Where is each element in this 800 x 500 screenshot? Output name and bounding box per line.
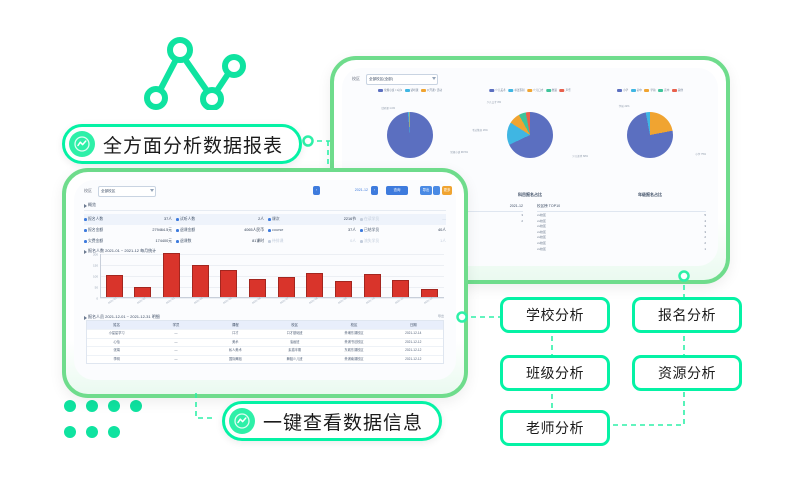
chart-x-tick-label: 2021-05 (223, 297, 236, 309)
pie-caption: 科目报名占比 (470, 192, 590, 198)
chart-bar[interactable] (335, 281, 352, 298)
list-item-value: 1 (704, 247, 706, 251)
pie-slice-label: 试听课 1.0% (381, 106, 395, 110)
legend-swatch (508, 89, 513, 92)
bullet-icon (176, 229, 179, 232)
date-next-button[interactable]: › (371, 186, 378, 195)
legend-label: 初中 (637, 88, 642, 92)
legend-label: 学前 (650, 88, 655, 92)
stats-grid: 报名人数 37人 试听人数 2人 课次 2216节 (84, 214, 446, 247)
overview-section-title: 概览 (88, 202, 96, 208)
stat-value: 40人 (438, 225, 446, 236)
chart-x-tick-label: 2021-10 (366, 297, 379, 309)
bottom-filter-label: 校区 (84, 188, 92, 194)
poster-canvas: 校区 全部校区(全部) 常规小班 / 1对1 (0, 0, 800, 500)
legend-swatch (489, 89, 494, 92)
reset-button[interactable] (433, 186, 440, 195)
bullet-icon (268, 218, 271, 221)
pie-caption: 年级报名占比 (590, 192, 710, 198)
chart-y-axis (100, 254, 101, 298)
table-column-header[interactable]: 日期 (384, 321, 443, 329)
stat-cell: 试听人数 2人 (176, 214, 264, 225)
analysis-box-teacher[interactable]: 老师分析 (500, 410, 610, 446)
bullet-icon (268, 240, 271, 243)
table-cell: 2021-12-12 (384, 339, 443, 347)
legend-label: 小学 (623, 88, 628, 92)
chart-x-tick-label: 2021-07 (280, 297, 293, 309)
stat-value: 0人 (350, 236, 356, 247)
list-item: xx校区 5 (537, 213, 706, 217)
list-item: xx校区 3 (537, 224, 706, 228)
legend-item: 公开课 / 活动 (421, 88, 442, 92)
legend-label: 公开课 / 活动 (427, 88, 442, 92)
divider (84, 210, 446, 211)
pie-chart-block: 少儿美术 书法篆刻 少儿口才 舞蹈 (470, 88, 590, 200)
table-cell: — (146, 356, 205, 364)
stat-cell: course 37人 (268, 225, 356, 236)
legend-label: 试听课 (411, 88, 419, 92)
list-item-name: xx校区 (537, 230, 546, 234)
legend-item: 书法篆刻 (508, 88, 524, 92)
list-item-value: 2 (704, 241, 706, 245)
chart-x-tick-label: 2021-06 (251, 297, 264, 309)
bullet-icon (84, 229, 87, 232)
bullet-icon (84, 240, 87, 243)
top-filter-label: 校区 (352, 76, 360, 82)
list-item-name: xx校区 (537, 247, 546, 251)
analysis-box-enrollment[interactable]: 报名分析 (632, 297, 742, 333)
bullet-icon (360, 218, 363, 221)
stat-cell: 退课数 81课时 (176, 236, 264, 247)
list-item-value: 2 (521, 219, 523, 223)
feature-pill-label: 一键查看数据信息 (263, 408, 423, 435)
legend-item: 舞蹈 (546, 88, 557, 92)
legend-item: 常规小班 / 1对1 (378, 88, 402, 92)
chart-x-tick-label: 2021-02 (137, 297, 150, 309)
stat-value: 37人 (348, 225, 356, 236)
pie-chart[interactable] (387, 112, 433, 158)
pie-slice-label: 小学 75% (695, 152, 706, 156)
list-item-value: 3 (704, 224, 706, 228)
list-item: xx校区 4 (537, 219, 706, 223)
list-item-name: xx校区 (537, 213, 546, 217)
stat-cell: 课次 2216节 (268, 214, 356, 225)
chart-x-labels: 2021-012021-022021-032021-042021-052021-… (100, 299, 444, 307)
pie-chart-block: 小学 初中 学前 高中 (590, 88, 710, 200)
chevron-down-icon (150, 189, 154, 192)
bullet-icon (176, 218, 179, 221)
legend-item: 高中 (658, 88, 669, 92)
legend-label: 少儿美术 (495, 88, 505, 92)
chart-bars (100, 254, 444, 298)
stat-name: 报名人数 (88, 214, 103, 225)
chart-bar[interactable] (306, 273, 323, 298)
legend-item: 学前 (644, 88, 655, 92)
stat-name: 在读学员 (364, 214, 379, 225)
pie-slice-label: 学前 22% (619, 104, 630, 108)
analysis-box-label: 资源分析 (658, 363, 716, 383)
table-header-row: 姓名学员课程校区校区日期 (87, 321, 443, 329)
stat-cell: 已结学员 40人 (360, 225, 446, 236)
table-export-link[interactable]: 导出 (438, 314, 444, 318)
stat-value: 1人 (440, 236, 446, 247)
chart-bar[interactable] (392, 280, 409, 298)
list-item-name: xx校区 (537, 241, 546, 245)
top-toolbar: 校区 全部校区(全部) (352, 74, 708, 88)
feature-pill-label: 全方面分析数据报表 (103, 131, 283, 158)
stat-value: 2216节 (344, 214, 356, 225)
table-row[interactable]: 李明—国际舞蹈舞蹈少儿班黄浦南湖校区2021-12-12 (87, 355, 443, 364)
analysis-box-label: 老师分析 (526, 418, 584, 438)
line-chart-badge-icon (229, 408, 255, 434)
bottom-campus-select[interactable]: 全部校区 (98, 186, 156, 197)
legend-swatch (658, 89, 663, 92)
chart-x-tick-label: 2021-12 (423, 297, 436, 309)
stat-name: 报名金额 (88, 225, 103, 236)
analysis-box-class[interactable]: 班级分析 (500, 355, 610, 391)
stat-row: 报名人数 37人 试听人数 2人 课次 2216节 (84, 214, 446, 225)
table-cell: — (146, 347, 205, 355)
stat-value: 4065人民币 (244, 225, 264, 236)
analysis-box-school[interactable]: 学校分析 (500, 297, 610, 333)
stat-name: 待排课 (272, 236, 283, 247)
legend-swatch (421, 89, 426, 92)
ranking-list-header: 校区榜 TOP10 (537, 204, 706, 212)
chevron-down-icon (432, 77, 436, 80)
table-cell: 私人美术 (206, 347, 265, 355)
date-value[interactable]: 2021-12 (355, 186, 368, 195)
stat-name: 退课数 (180, 236, 191, 247)
table-cell: 口才基础班 (265, 330, 324, 338)
ranking-period: 2021-12 (510, 204, 523, 209)
legend-item: 其他 (672, 88, 683, 92)
table-column-header[interactable]: 校区 (265, 321, 324, 329)
bottom-dashboard-card[interactable]: 校区 全部校区 ‹ 2021-12 › 查询 导出 更多 概览 (62, 168, 468, 398)
chart-x-tick-label: 2021-08 (309, 297, 322, 309)
table-cell: 黄浦书法校区 (324, 339, 383, 347)
legend-swatch (546, 89, 551, 92)
chart-x-tick-label: 2021-11 (395, 297, 407, 309)
top-campus-select-value: 全部校区(全部) (367, 75, 437, 84)
stat-value: — (442, 214, 446, 225)
legend-swatch (560, 89, 565, 92)
list-item-value: 4 (704, 219, 706, 223)
chart-y-tick-label: 100 (88, 275, 98, 279)
pie-slice-label: 少儿口才 8% (487, 100, 501, 104)
table-cell: 心怡 (87, 339, 146, 347)
pie-chart[interactable] (627, 112, 673, 158)
legend-label: 声乐 (566, 88, 571, 92)
table-row[interactable]: 张娟—私人美术素描半期东城东湖校区2021-12-12 (87, 346, 443, 355)
chart-bar[interactable] (364, 274, 381, 298)
pie-legend: 少儿美术 书法篆刻 少儿口才 舞蹈 (489, 88, 571, 92)
analysis-box-label: 班级分析 (526, 363, 584, 383)
chart-bar[interactable] (220, 270, 237, 298)
chart-bar[interactable] (163, 253, 180, 298)
pie-slice-label: 常规小班 98.5% (450, 150, 468, 154)
stat-cell: 在读学员 — (360, 214, 446, 225)
bullet-icon (84, 218, 87, 221)
pie-chart[interactable] (507, 112, 553, 158)
legend-item: 小学 (617, 88, 628, 92)
legend-swatch (378, 89, 383, 92)
list-item: xx校区 3 (537, 230, 706, 234)
chart-bar[interactable] (249, 279, 266, 298)
pie-legend: 小学 初中 学前 高中 (617, 88, 683, 92)
list-item-value: 2 (704, 235, 706, 239)
table-cell: 黄埔东湖校区 (324, 330, 383, 338)
pie-legend: 常规小班 / 1对1 试听课 公开课 / 活动 (378, 88, 442, 92)
stat-value: 81课时 (252, 236, 264, 247)
legend-label: 其他 (678, 88, 683, 92)
chart-bar[interactable] (106, 275, 123, 298)
bottom-campus-select-value: 全部校区 (99, 187, 155, 196)
list-item: xx校区 2 (537, 235, 706, 239)
table-cell: 口才 (206, 330, 265, 338)
stat-name: 已结学员 (364, 225, 379, 236)
stat-row: 欠费金额 174400元 退课数 81课时 待排课 0人 (84, 236, 446, 247)
search-button[interactable]: 查询 (386, 186, 408, 195)
stat-cell: 待排课 0人 (268, 236, 356, 247)
stat-cell: 报名人数 37人 (84, 214, 172, 225)
table-column-header[interactable]: 校区 (324, 321, 383, 329)
stat-value: 279464.5元 (152, 225, 172, 236)
legend-item: 初中 (631, 88, 642, 92)
stat-cell: 报名金额 279464.5元 (84, 225, 172, 236)
chart-y-tick-label: 50 (88, 286, 98, 290)
feature-pill-analysis-report[interactable]: 全方面分析数据报表 (62, 124, 302, 164)
legend-swatch (631, 89, 636, 92)
chart-x-tick-label: 2021-09 (337, 297, 350, 309)
chart-y-tick-label: 150 (88, 264, 98, 268)
stat-name: 流失学员 (364, 236, 379, 247)
monthly-bar-chart[interactable]: 200150100500 2021-012021-022021-032021-0… (88, 254, 444, 306)
stat-value: 174400元 (156, 236, 172, 247)
chart-x-axis (100, 297, 444, 298)
stat-name: 退课金额 (180, 225, 195, 236)
chart-x-tick-label: 2021-04 (194, 297, 207, 309)
chart-bar[interactable] (278, 277, 295, 298)
analysis-box-label: 学校分析 (526, 305, 584, 325)
ranking-list: 校区榜 TOP10 xx校区 5 xx校区 4 xx校区 3 (537, 204, 706, 251)
list-item-name: xx校区 (537, 224, 546, 228)
ranking-title: 校区榜 TOP10 (537, 204, 560, 209)
stat-name: 试听人数 (180, 214, 195, 225)
pie-slice-label: 少儿美术 68% (572, 154, 588, 158)
chart-bar[interactable] (192, 265, 209, 298)
legend-swatch (405, 89, 410, 92)
line-chart-decoration-icon (142, 22, 250, 110)
table-cell: 油画班 (265, 339, 324, 347)
table-column-header[interactable]: 姓名 (87, 321, 146, 329)
chart-y-tick-label: 0 (88, 297, 98, 301)
stat-cell: 退课金额 4065人民币 (176, 225, 264, 236)
table-column-header[interactable]: 课程 (206, 321, 265, 329)
analysis-box-label: 报名分析 (658, 305, 716, 325)
date-prev-button[interactable]: ‹ (313, 186, 320, 195)
table-cell: — (146, 330, 205, 338)
table-cell: 东城东湖校区 (324, 347, 383, 355)
bottom-toolbar: 校区 全部校区 ‹ 2021-12 › 查询 导出 更多 (84, 186, 446, 200)
legend-label: 书法篆刻 (514, 88, 524, 92)
table-cell: 2021-12-14 (384, 330, 443, 338)
legend-label: 常规小班 / 1对1 (384, 88, 402, 92)
stat-cell: 欠费金额 174400元 (84, 236, 172, 247)
table-row[interactable]: 心怡—美术油画班黄浦书法校区2021-12-12 (87, 338, 443, 347)
legend-swatch (527, 89, 532, 92)
stat-value: 37人 (164, 214, 172, 225)
legend-item: 少儿美术 (489, 88, 505, 92)
table-cell: 2021-12-12 (384, 347, 443, 355)
bottom-dashboard-screen: 校区 全部校区 ‹ 2021-12 › 查询 导出 更多 概览 (74, 180, 456, 380)
table-column-header[interactable]: 学员 (146, 321, 205, 329)
pie-slice-label: 书法篆刻 16% (472, 128, 488, 132)
more-button[interactable]: 更多 (442, 186, 452, 195)
legend-item: 声乐 (560, 88, 571, 92)
bullet-icon (268, 229, 271, 232)
legend-swatch (617, 89, 622, 92)
table-row[interactable]: 小星星学习—口才口才基础班黄埔东湖校区2021-12-14 (87, 329, 443, 338)
table-cell: 张娟 (87, 347, 146, 355)
stat-value: 2人 (258, 214, 264, 225)
chart-y-tick-label: 200 (88, 253, 98, 257)
analysis-box-resource[interactable]: 资源分析 (632, 355, 742, 391)
table-body: 小星星学习—口才口才基础班黄埔东湖校区2021-12-14心怡—美术油画班黄浦书… (87, 329, 443, 363)
bullet-icon (360, 240, 363, 243)
chart-x-tick-label: 2021-01 (108, 297, 121, 309)
feature-pill-one-click-data[interactable]: 一键查看数据信息 (222, 401, 442, 441)
list-item-name: xx校区 (537, 219, 546, 223)
list-item: xx校区 2 (537, 241, 706, 245)
list-item-value: 3 (521, 213, 523, 217)
legend-label: 高中 (664, 88, 669, 92)
legend-swatch (672, 89, 677, 92)
bullet-icon (176, 240, 179, 243)
table-cell: 2021-12-12 (384, 356, 443, 364)
bullet-icon (360, 229, 363, 232)
stat-cell: 流失学员 1人 (360, 236, 446, 247)
legend-label: 舞蹈 (552, 88, 557, 92)
table-cell: 小星星学习 (87, 330, 146, 338)
legend-swatch (644, 89, 649, 92)
table-cell: 舞蹈少儿班 (265, 356, 324, 364)
stat-name: course (272, 225, 283, 236)
top-campus-select[interactable]: 全部校区(全部) (366, 74, 438, 85)
table-cell: 美术 (206, 339, 265, 347)
list-item: xx校区 1 (537, 247, 706, 251)
legend-item: 试听课 (405, 88, 419, 92)
dot-grid-decoration-icon (62, 396, 158, 448)
detail-table: 姓名学员课程校区校区日期 小星星学习—口才口才基础班黄埔东湖校区2021-12-… (86, 320, 444, 364)
legend-label: 少儿口才 (533, 88, 543, 92)
table-cell: — (146, 339, 205, 347)
stat-name: 课次 (272, 214, 280, 225)
table-cell: 李明 (87, 356, 146, 364)
stat-name: 欠费金额 (88, 236, 103, 247)
stat-row: 报名金额 279464.5元 退课金额 4065人民币 course 37人 (84, 225, 446, 236)
legend-item: 少儿口才 (527, 88, 543, 92)
line-chart-badge-icon (69, 131, 95, 157)
list-item-value: 3 (704, 230, 706, 234)
table-cell: 素描半期 (265, 347, 324, 355)
chart-x-tick-label: 2021-03 (165, 297, 178, 309)
table-cell: 黄浦南湖校区 (324, 356, 383, 364)
list-item-value: 5 (704, 213, 706, 217)
table-cell: 国际舞蹈 (206, 356, 265, 364)
list-item-name: xx校区 (537, 235, 546, 239)
export-button[interactable]: 导出 (420, 186, 432, 195)
